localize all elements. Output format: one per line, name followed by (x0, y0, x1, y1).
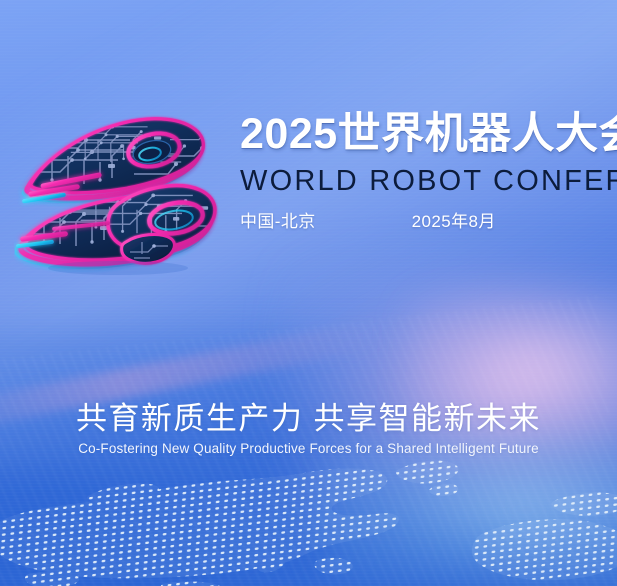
slogan-chinese: 共育新质生产力 共享智能新未来 (0, 400, 617, 438)
title-block: 2025世界机器人大会 WORLD ROBOT CONFERENCE 中国-北京… (240, 108, 612, 232)
conference-title-english: WORLD ROBOT CONFERENCE (240, 164, 612, 198)
slogan-english: Co-Fostering New Quality Productive Forc… (0, 440, 617, 458)
background-scanline-texture (0, 0, 617, 586)
conference-meta-row: 中国-北京 2025年8月 (240, 207, 612, 232)
conference-logo (14, 92, 226, 280)
conference-location: 中国-北京 (240, 207, 316, 232)
slogan-block: 共育新质生产力 共享智能新未来 Co-Fostering New Quality… (0, 400, 617, 458)
conference-title-chinese: 2025世界机器人大会 (240, 108, 612, 160)
conference-banner: 2025世界机器人大会 WORLD ROBOT CONFERENCE 中国-北京… (0, 0, 617, 586)
conference-date: 2025年8月 (412, 207, 496, 232)
